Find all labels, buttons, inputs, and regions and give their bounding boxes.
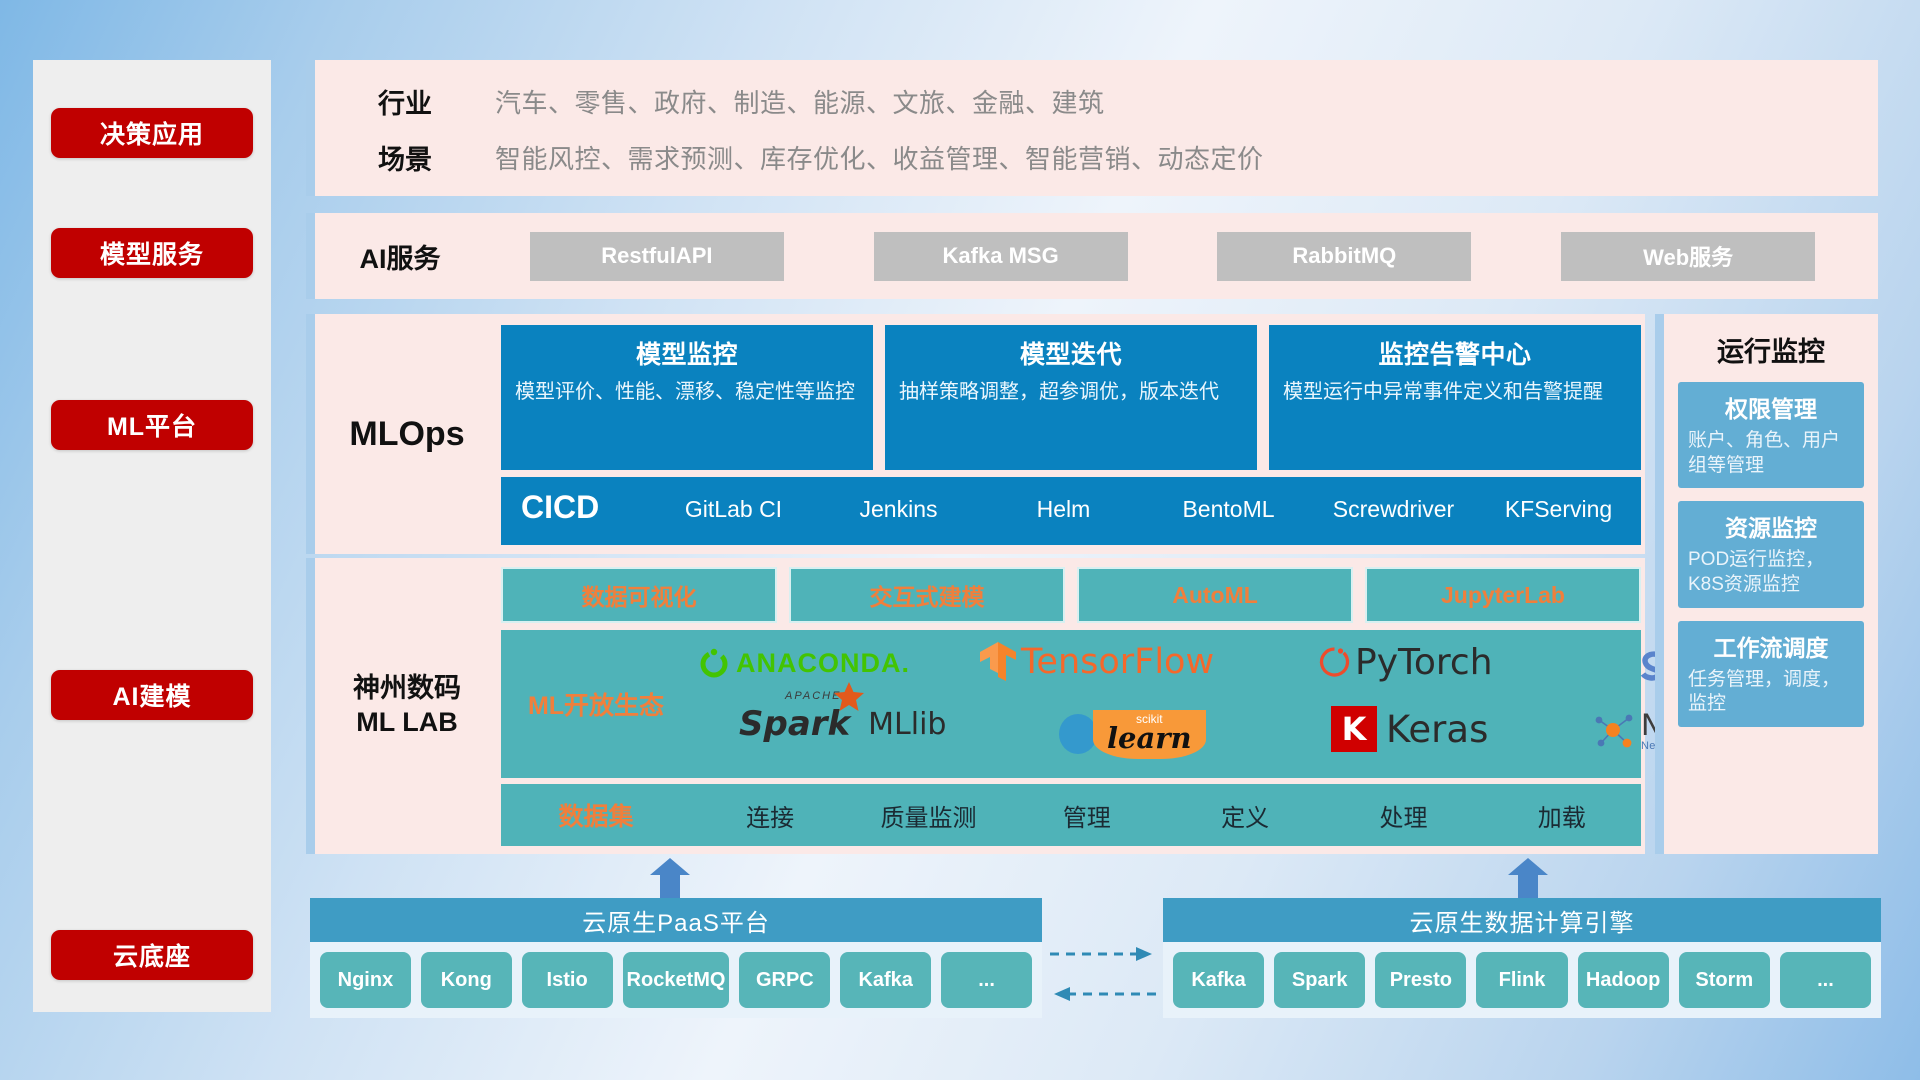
bidirectional-link-arrows bbox=[1048, 938, 1158, 1010]
mlops-card-alert-center[interactable]: 监控告警中心 模型运行中异常事件定义和告警提醒 bbox=[1269, 325, 1641, 470]
service-chip-web[interactable]: Web服务 bbox=[1561, 232, 1815, 281]
rail-item-ai-modeling[interactable]: AI建模 bbox=[51, 670, 253, 720]
monitoring-card-resource[interactable]: 资源监控 POD运行监控，K8S资源监控 bbox=[1678, 501, 1864, 607]
card-title: 权限管理 bbox=[1688, 390, 1854, 424]
anaconda-logo: ANACONDA. bbox=[697, 646, 910, 680]
rail-item-cloud-base[interactable]: 云底座 bbox=[51, 930, 253, 980]
industry-label: 行业 bbox=[315, 82, 495, 121]
engine-chip-kafka[interactable]: Kafka bbox=[1173, 952, 1264, 1008]
keras-logo: K Keras bbox=[1331, 706, 1488, 752]
dataset-step-define[interactable]: 定义 bbox=[1166, 798, 1324, 833]
service-chip-rabbitmq[interactable]: RabbitMQ bbox=[1217, 232, 1471, 281]
anaconda-logo-text: ANACONDA. bbox=[736, 648, 910, 679]
paas-chip-kong[interactable]: Kong bbox=[421, 952, 512, 1008]
keras-logo-mark: K bbox=[1331, 706, 1377, 752]
paas-chip-rocketmq[interactable]: RocketMQ bbox=[623, 952, 730, 1008]
dataset-step-process[interactable]: 处理 bbox=[1324, 798, 1482, 833]
ml-ecosystem-row: ML开放生态 ANACONDA. TensorFlow PyTorch sas bbox=[501, 630, 1641, 778]
service-chip-kafka-msg[interactable]: Kafka MSG bbox=[874, 232, 1128, 281]
mlops-card-model-iteration[interactable]: 模型迭代 抽样策略调整，超参调优，版本迭代 bbox=[885, 325, 1257, 470]
pytorch-logo: PyTorch bbox=[1318, 642, 1493, 683]
card-title: 资源监控 bbox=[1688, 509, 1854, 543]
lab-tool-automl[interactable]: AutoML bbox=[1077, 567, 1353, 623]
card-desc: 抽样策略调整，超参调优，版本迭代 bbox=[899, 379, 1243, 406]
mlops-card-list: 模型监控 模型评价、性能、漂移、稳定性等监控 模型迭代 抽样策略调整，超参调优，… bbox=[501, 325, 1641, 470]
ml-ecosystem-logo-area: ANACONDA. TensorFlow PyTorch sas APACHE bbox=[691, 630, 1641, 778]
cloud-engine-chip-list: Kafka Spark Presto Flink Hadoop Storm ..… bbox=[1163, 942, 1881, 1018]
engine-chip-presto[interactable]: Presto bbox=[1375, 952, 1466, 1008]
ai-service-chip-list: RestfulAPI Kafka MSG RabbitMQ Web服务 bbox=[485, 232, 1878, 281]
pytorch-logo-text: PyTorch bbox=[1355, 642, 1493, 683]
ml-lab-label-en: ML LAB bbox=[356, 706, 458, 740]
rail-item-decision-app[interactable]: 决策应用 bbox=[51, 108, 253, 158]
monitoring-title: 运行监控 bbox=[1664, 314, 1878, 369]
ml-lab-tool-list: 数据可视化 交互式建模 AutoML JupyterLab bbox=[501, 567, 1641, 623]
rail-label: 云底座 bbox=[113, 937, 191, 973]
mlops-panel: MLOps 模型监控 模型评价、性能、漂移、稳定性等监控 模型迭代 抽样策略调整… bbox=[306, 314, 1645, 554]
rail-label: 模型服务 bbox=[100, 235, 204, 271]
cicd-bar: CICD GitLab CI Jenkins Helm BentoML Scre… bbox=[501, 477, 1641, 545]
mlops-label: MLOps bbox=[315, 314, 499, 554]
rail-label: ML平台 bbox=[107, 407, 197, 443]
cicd-item-kfserving[interactable]: KFServing bbox=[1476, 477, 1641, 524]
ml-lab-panel: 神州数码 ML LAB 数据可视化 交互式建模 AutoML JupyterLa… bbox=[306, 558, 1645, 854]
scenario-label: 场景 bbox=[315, 138, 495, 177]
paas-chip-istio[interactable]: Istio bbox=[522, 952, 613, 1008]
scikit-learn-logo: scikit learn bbox=[1057, 710, 1206, 759]
card-title: 模型迭代 bbox=[899, 335, 1243, 371]
lab-tool-interactive-modeling[interactable]: 交互式建模 bbox=[789, 567, 1065, 623]
industry-values: 汽车、零售、政府、制造、能源、文旅、金融、建筑 bbox=[495, 83, 1105, 120]
dataset-step-manage[interactable]: 管理 bbox=[1008, 798, 1166, 833]
mllib-logo-text: MLlib bbox=[868, 707, 946, 742]
cicd-item-gitlab-ci[interactable]: GitLab CI bbox=[651, 477, 816, 524]
scikit-logo-text: learn bbox=[1107, 725, 1192, 753]
industry-row: 行业 汽车、零售、政府、制造、能源、文旅、金融、建筑 bbox=[315, 82, 1878, 121]
ai-service-label: AI服务 bbox=[315, 237, 485, 276]
card-desc: 模型评价、性能、漂移、稳定性等监控 bbox=[515, 379, 859, 406]
scenario-row: 场景 智能风控、需求预测、库存优化、收益管理、智能营销、动态定价 bbox=[315, 138, 1878, 177]
card-desc: 模型运行中异常事件定义和告警提醒 bbox=[1283, 379, 1627, 406]
paas-chip-kafka[interactable]: Kafka bbox=[840, 952, 931, 1008]
up-arrow-paas-icon bbox=[648, 858, 692, 898]
lab-tool-jupyterlab[interactable]: JupyterLab bbox=[1365, 567, 1641, 623]
lab-tool-data-visualization[interactable]: 数据可视化 bbox=[501, 567, 777, 623]
layer-rail: 决策应用 模型服务 ML平台 AI建模 云底座 bbox=[33, 60, 271, 1012]
monitoring-card-permission[interactable]: 权限管理 账户、角色、用户组等管理 bbox=[1678, 382, 1864, 488]
spark-logo: APACHE Spark MLlib bbox=[739, 704, 946, 744]
up-arrow-engine-icon bbox=[1506, 858, 1550, 898]
card-desc: 账户、角色、用户组等管理 bbox=[1688, 429, 1854, 478]
dataset-step-load[interactable]: 加载 bbox=[1483, 798, 1641, 833]
tensorflow-logo: TensorFlow bbox=[978, 640, 1214, 684]
cicd-item-helm[interactable]: Helm bbox=[981, 477, 1146, 524]
cloud-engine-block: 云原生数据计算引擎 Kafka Spark Presto Flink Hadoo… bbox=[1163, 898, 1881, 1018]
cloud-paas-title: 云原生PaaS平台 bbox=[310, 898, 1042, 942]
engine-chip-flink[interactable]: Flink bbox=[1476, 952, 1567, 1008]
dataset-row: 数据集 连接 质量监测 管理 定义 处理 加载 bbox=[501, 784, 1641, 846]
dataset-label: 数据集 bbox=[501, 797, 691, 833]
cicd-item-jenkins[interactable]: Jenkins bbox=[816, 477, 981, 524]
keras-logo-text: Keras bbox=[1386, 708, 1488, 751]
cloud-engine-title: 云原生数据计算引擎 bbox=[1163, 898, 1881, 942]
paas-chip-more[interactable]: ... bbox=[941, 952, 1032, 1008]
monitoring-card-workflow[interactable]: 工作流调度 任务管理，调度，监控 bbox=[1678, 621, 1864, 727]
rail-item-ml-platform[interactable]: ML平台 bbox=[51, 400, 253, 450]
engine-chip-more[interactable]: ... bbox=[1780, 952, 1871, 1008]
tensorflow-logo-text: TensorFlow bbox=[1021, 642, 1214, 682]
paas-chip-nginx[interactable]: Nginx bbox=[320, 952, 411, 1008]
engine-chip-spark[interactable]: Spark bbox=[1274, 952, 1365, 1008]
cloud-paas-chip-list: Nginx Kong Istio RocketMQ GRPC Kafka ... bbox=[310, 942, 1042, 1018]
card-desc: POD运行监控，K8S资源监控 bbox=[1688, 548, 1854, 597]
card-title: 监控告警中心 bbox=[1283, 335, 1627, 371]
cicd-item-screwdriver[interactable]: Screwdriver bbox=[1311, 477, 1476, 524]
rail-item-model-service[interactable]: 模型服务 bbox=[51, 228, 253, 278]
ai-service-panel: AI服务 RestfulAPI Kafka MSG RabbitMQ Web服务 bbox=[306, 213, 1878, 299]
dataset-step-connect[interactable]: 连接 bbox=[691, 798, 849, 833]
ml-ecosystem-label: ML开放生态 bbox=[501, 686, 691, 722]
ml-lab-label: 神州数码 ML LAB bbox=[315, 558, 499, 854]
mlops-card-model-monitoring[interactable]: 模型监控 模型评价、性能、漂移、稳定性等监控 bbox=[501, 325, 873, 470]
cicd-title: CICD bbox=[501, 477, 651, 526]
service-chip-restfulapi[interactable]: RestfulAPI bbox=[530, 232, 784, 281]
rail-label: AI建模 bbox=[112, 677, 191, 713]
ml-lab-label-cn: 神州数码 bbox=[353, 672, 461, 706]
paas-chip-grpc[interactable]: GRPC bbox=[739, 952, 830, 1008]
cicd-item-bentoml[interactable]: BentoML bbox=[1146, 477, 1311, 524]
scenario-values: 智能风控、需求预测、库存优化、收益管理、智能营销、动态定价 bbox=[495, 139, 1264, 176]
engine-chip-hadoop[interactable]: Hadoop bbox=[1578, 952, 1669, 1008]
card-desc: 任务管理，调度，监控 bbox=[1688, 668, 1854, 717]
runtime-monitoring-panel: 运行监控 权限管理 账户、角色、用户组等管理 资源监控 POD运行监控，K8S资… bbox=[1655, 314, 1878, 854]
cloud-paas-block: 云原生PaaS平台 Nginx Kong Istio RocketMQ GRPC… bbox=[310, 898, 1042, 1018]
application-layer-panel: 行业 汽车、零售、政府、制造、能源、文旅、金融、建筑 场景 智能风控、需求预测、… bbox=[306, 60, 1878, 196]
rail-label: 决策应用 bbox=[100, 115, 204, 151]
card-title: 工作流调度 bbox=[1688, 629, 1854, 663]
engine-chip-storm[interactable]: Storm bbox=[1679, 952, 1770, 1008]
card-title: 模型监控 bbox=[515, 335, 859, 371]
dataset-step-quality[interactable]: 质量监测 bbox=[849, 798, 1007, 833]
